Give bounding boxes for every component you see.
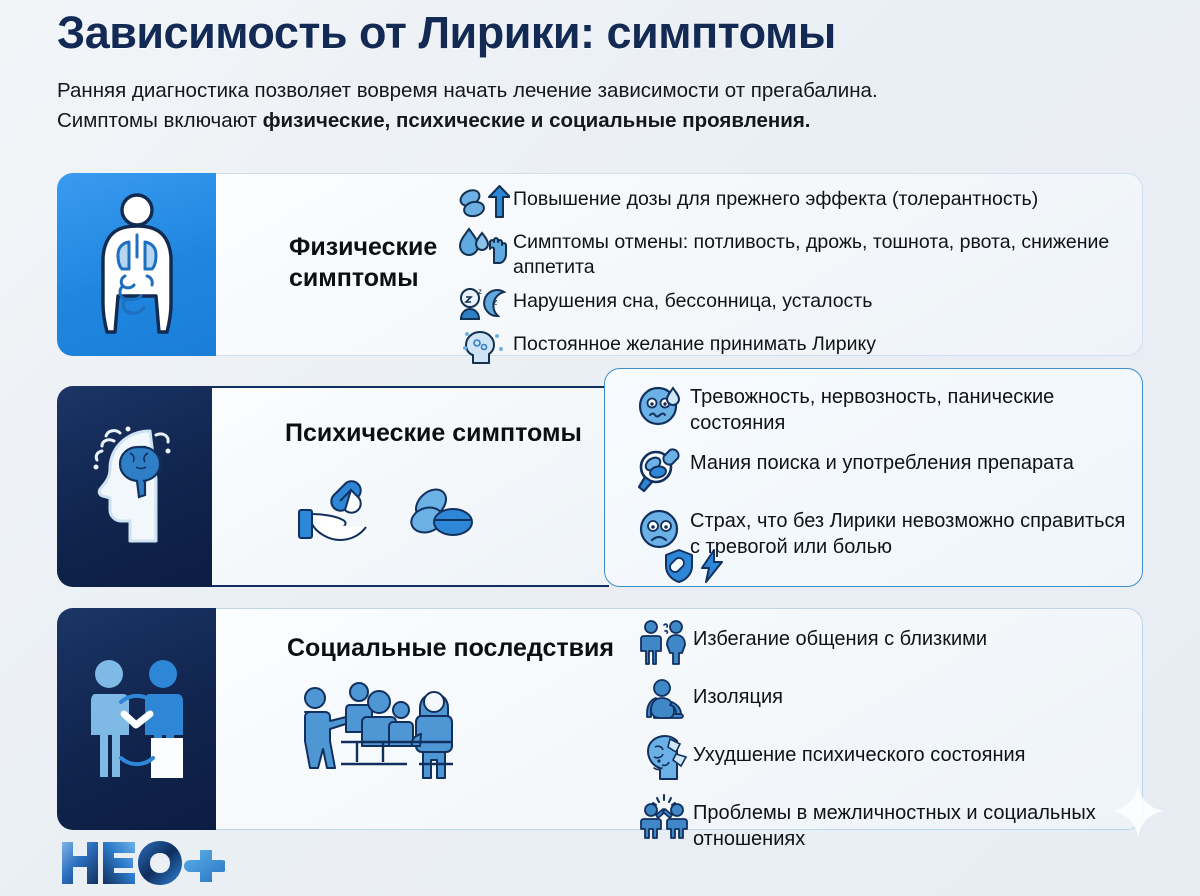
mental-symptom-list: Тревожность, нервозность, панические сос… <box>630 382 1135 572</box>
card-physical-icon-block <box>57 173 216 356</box>
list-item: Изоляция <box>635 676 1135 724</box>
list-item-text: Проблемы в межличностных и социальных от… <box>693 792 1135 852</box>
pills-tablets-icon <box>408 484 472 537</box>
infographic-page: Зависимость от Лирики: симптомы Ранняя д… <box>0 0 1200 896</box>
fearful-face-icon <box>630 506 690 552</box>
card-social-heading: Социальные последствия <box>287 634 614 663</box>
list-item-text: Тревожность, нервозность, панические сос… <box>690 382 1135 436</box>
list-item: Постоянное желание принимать Лирику <box>455 327 1145 367</box>
subtitle-line-2-bold: физические, психические и социальные про… <box>263 109 811 132</box>
list-item: Ухудшение психического состояния <box>635 734 1135 782</box>
list-item: Избегание общения с близкими <box>635 618 1135 666</box>
list-item: Мания поиска и употребления препарата <box>630 448 1135 494</box>
sitting-alone-icon <box>635 676 693 724</box>
header: Зависимость от Лирики: симптомы Ранняя д… <box>57 8 1147 135</box>
list-item: Повышение дозы для прежнего эффекта (тол… <box>455 182 1145 222</box>
list-item: Тревожность, нервозность, панические сос… <box>630 382 1135 436</box>
card-mental-symptoms: Психические симптомы <box>57 386 609 587</box>
hand-with-capsule-icon <box>299 481 366 540</box>
two-people-handshake-icon <box>81 654 193 784</box>
sleepy-face-moon-icon: z z <box>455 284 513 324</box>
list-item-text: Повышение дозы для прежнего эффекта (тол… <box>513 182 1038 212</box>
list-item: Проблемы в межличностных и социальных от… <box>635 792 1135 852</box>
list-item-text: Нарушения сна, бессонница, усталость <box>513 284 872 314</box>
card-mental-heading: Психические симптомы <box>285 419 582 448</box>
neo-plus-logo <box>60 838 225 888</box>
card-mental-icon-block <box>57 386 212 587</box>
list-item: Симптомы отмены: потливость, дрожь, тошн… <box>455 225 1145 281</box>
svg-text:z: z <box>493 297 498 307</box>
anxious-face-icon <box>630 382 690 428</box>
list-item-text: Избегание общения с близкими <box>693 618 987 653</box>
list-item-text: Изоляция <box>693 676 783 711</box>
list-item-text: Страх, что без Лирики невозможно справит… <box>690 506 1135 560</box>
broken-mind-head-icon <box>635 734 693 782</box>
subtitle-line-2-plain: Симптомы включают <box>57 109 263 132</box>
pills-up-arrow-icon <box>455 182 513 222</box>
shield-pill-icon <box>664 549 694 583</box>
list-item-text: Мания поиска и употребления препарата <box>690 448 1074 477</box>
page-title: Зависимость от Лирики: симптомы <box>57 8 1147 58</box>
head-brain-icon <box>80 423 190 551</box>
list-item-text: Постоянное желание принимать Лирику <box>513 327 876 357</box>
page-subtitle: Ранняя диагностика позволяет вовремя нач… <box>57 76 1132 134</box>
sweat-drops-trembling-hand-icon <box>455 225 513 265</box>
card-social-icon-block <box>57 608 216 830</box>
human-body-organs-icon <box>89 190 185 340</box>
conflict-people-icon <box>635 792 693 840</box>
list-item-text: Симптомы отмены: потливость, дрожь, тошн… <box>513 225 1145 281</box>
card-mental-panel-icons <box>297 476 527 556</box>
subtitle-line-1: Ранняя диагностика позволяет вовремя нач… <box>57 79 878 102</box>
craving-head-icon <box>455 327 513 367</box>
avoiding-people-icon <box>635 618 693 666</box>
sparkle-decoration-icon <box>1110 783 1166 839</box>
lightning-bolt-icon <box>700 549 724 583</box>
social-consequence-list: Избегание общения с близкими Изоляция <box>635 618 1135 862</box>
physical-symptom-list: Повышение дозы для прежнего эффекта (тол… <box>455 182 1145 370</box>
family-group-isolation-icon <box>297 676 507 796</box>
list-item-text: Ухудшение психического состояния <box>693 734 1026 769</box>
svg-text:z: z <box>478 287 482 296</box>
list-item: z z Нарушения сна, бессонница, усталость <box>455 284 1145 324</box>
mental-extra-icons <box>664 549 724 583</box>
magnifier-pills-icon <box>630 448 690 494</box>
